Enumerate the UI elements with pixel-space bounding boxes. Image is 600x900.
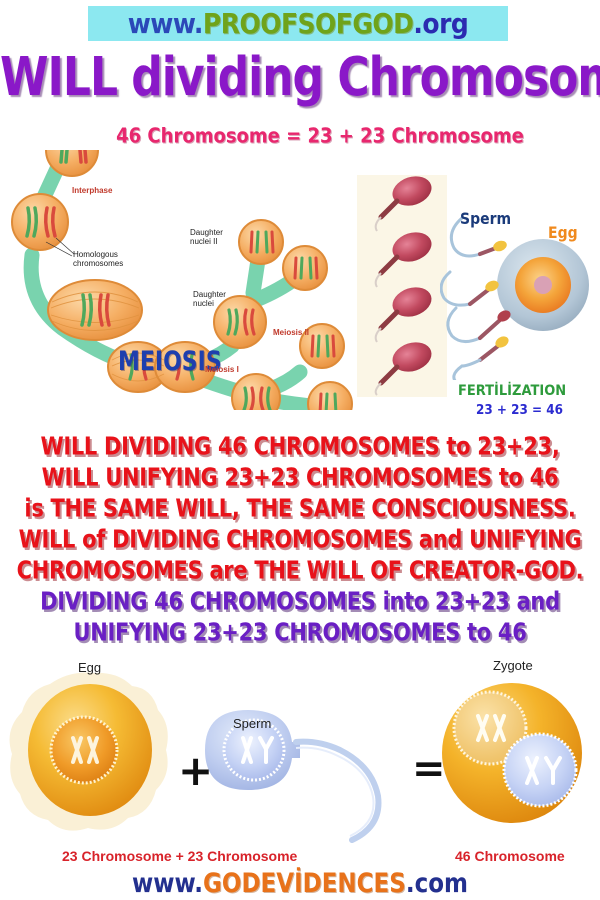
zygote-egg-label: Egg bbox=[78, 660, 101, 675]
fertilization-caption: FERTİLİZATION bbox=[458, 383, 566, 400]
label-meiosis-ii: Meiosis II bbox=[273, 328, 309, 337]
label-daughter-nuclei: Daughter nuclei bbox=[193, 290, 238, 308]
sperm-cell bbox=[376, 338, 436, 395]
meiosis-cell-spindle-1 bbox=[48, 280, 142, 340]
statement-line: UNIFYING 23+23 CHROMOSOMES to 46 bbox=[0, 614, 600, 651]
zygote-sperm-label: Sperm bbox=[233, 716, 271, 731]
footer-url-prefix: www. bbox=[132, 869, 203, 899]
swimming-sperm bbox=[441, 272, 500, 305]
subtitle-equation: 46 Chromosome = 23 + 23 Chromosome bbox=[110, 124, 530, 148]
zygote-svg bbox=[0, 650, 600, 850]
equals-sign: = bbox=[412, 746, 446, 792]
zygote-label: Zygote bbox=[493, 658, 533, 673]
label-daughter-nuclei-ii: Daughter nuclei II bbox=[190, 228, 242, 246]
sperm-cell bbox=[376, 283, 436, 342]
top-url-text: www.PROOFSOFGOD.org bbox=[128, 7, 469, 39]
zygote-diagram: Egg Sperm Zygote + = bbox=[0, 650, 600, 850]
top-url-domain: PROOFSOFGOD bbox=[203, 7, 414, 39]
zygote-cell bbox=[442, 683, 582, 823]
poster-root: www.PROOFSOFGOD.org WILL dividing Chromo… bbox=[0, 0, 600, 900]
fertilization-equation: 23 + 23 = 46 bbox=[476, 402, 563, 417]
label-interphase: Interphase bbox=[72, 186, 112, 195]
meiosis-cell-bottom-right bbox=[308, 382, 352, 410]
sperm-cell-bottom bbox=[205, 710, 378, 840]
top-url-prefix: www. bbox=[128, 7, 203, 39]
meiosis-diagram: MEIOSIS Interphase Homologous chromosome… bbox=[0, 150, 360, 410]
egg-cell-bottom bbox=[10, 672, 168, 830]
sperm-tail-highlight bbox=[296, 748, 374, 836]
fertilization-egg-label: Egg bbox=[548, 224, 578, 242]
sperm-strip-svg bbox=[357, 175, 447, 397]
page-title: WILL dividing Chromosomes bbox=[0, 46, 600, 108]
top-url-tld: .org bbox=[413, 7, 468, 39]
fertilization-diagram: Sperm Egg FERTİLİZATION 23 + 23 = 46 bbox=[440, 180, 600, 420]
meiosis-cell-bottom-center bbox=[232, 374, 280, 410]
egg-nucleolus bbox=[534, 276, 552, 294]
label-meiosis-i: Meiosis I bbox=[205, 365, 239, 374]
sperm-cell bbox=[376, 228, 436, 287]
label-homologous-chromosomes: Homologous chromosomes bbox=[73, 250, 133, 268]
sperm-cell bbox=[376, 175, 436, 231]
top-url-banner: www.PROOFSOFGOD.org bbox=[88, 6, 508, 41]
fertilization-sperm-label: Sperm bbox=[460, 210, 511, 228]
footer-url-tld: .com bbox=[406, 869, 468, 899]
plus-sign: + bbox=[178, 746, 213, 795]
meiosis-cell-daughter-ii bbox=[239, 220, 283, 264]
statement-block: WILL DIVIDING 46 CHROMOSOMES to 23+23, W… bbox=[0, 428, 600, 645]
egg-nucleus-bottom bbox=[51, 717, 117, 783]
zygote-nucleus-xy bbox=[504, 734, 576, 806]
caption-right: 46 Chromosome bbox=[455, 848, 565, 864]
footer-url-domain: GODEVİDENCES bbox=[203, 869, 406, 899]
meiosis-cell-upper-right bbox=[283, 246, 327, 290]
sperm-strip-panel bbox=[357, 175, 447, 397]
caption-left: 23 Chromosome + 23 Chromosome bbox=[62, 848, 297, 864]
footer-url: www.GODEVİDENCES.com bbox=[0, 869, 600, 899]
